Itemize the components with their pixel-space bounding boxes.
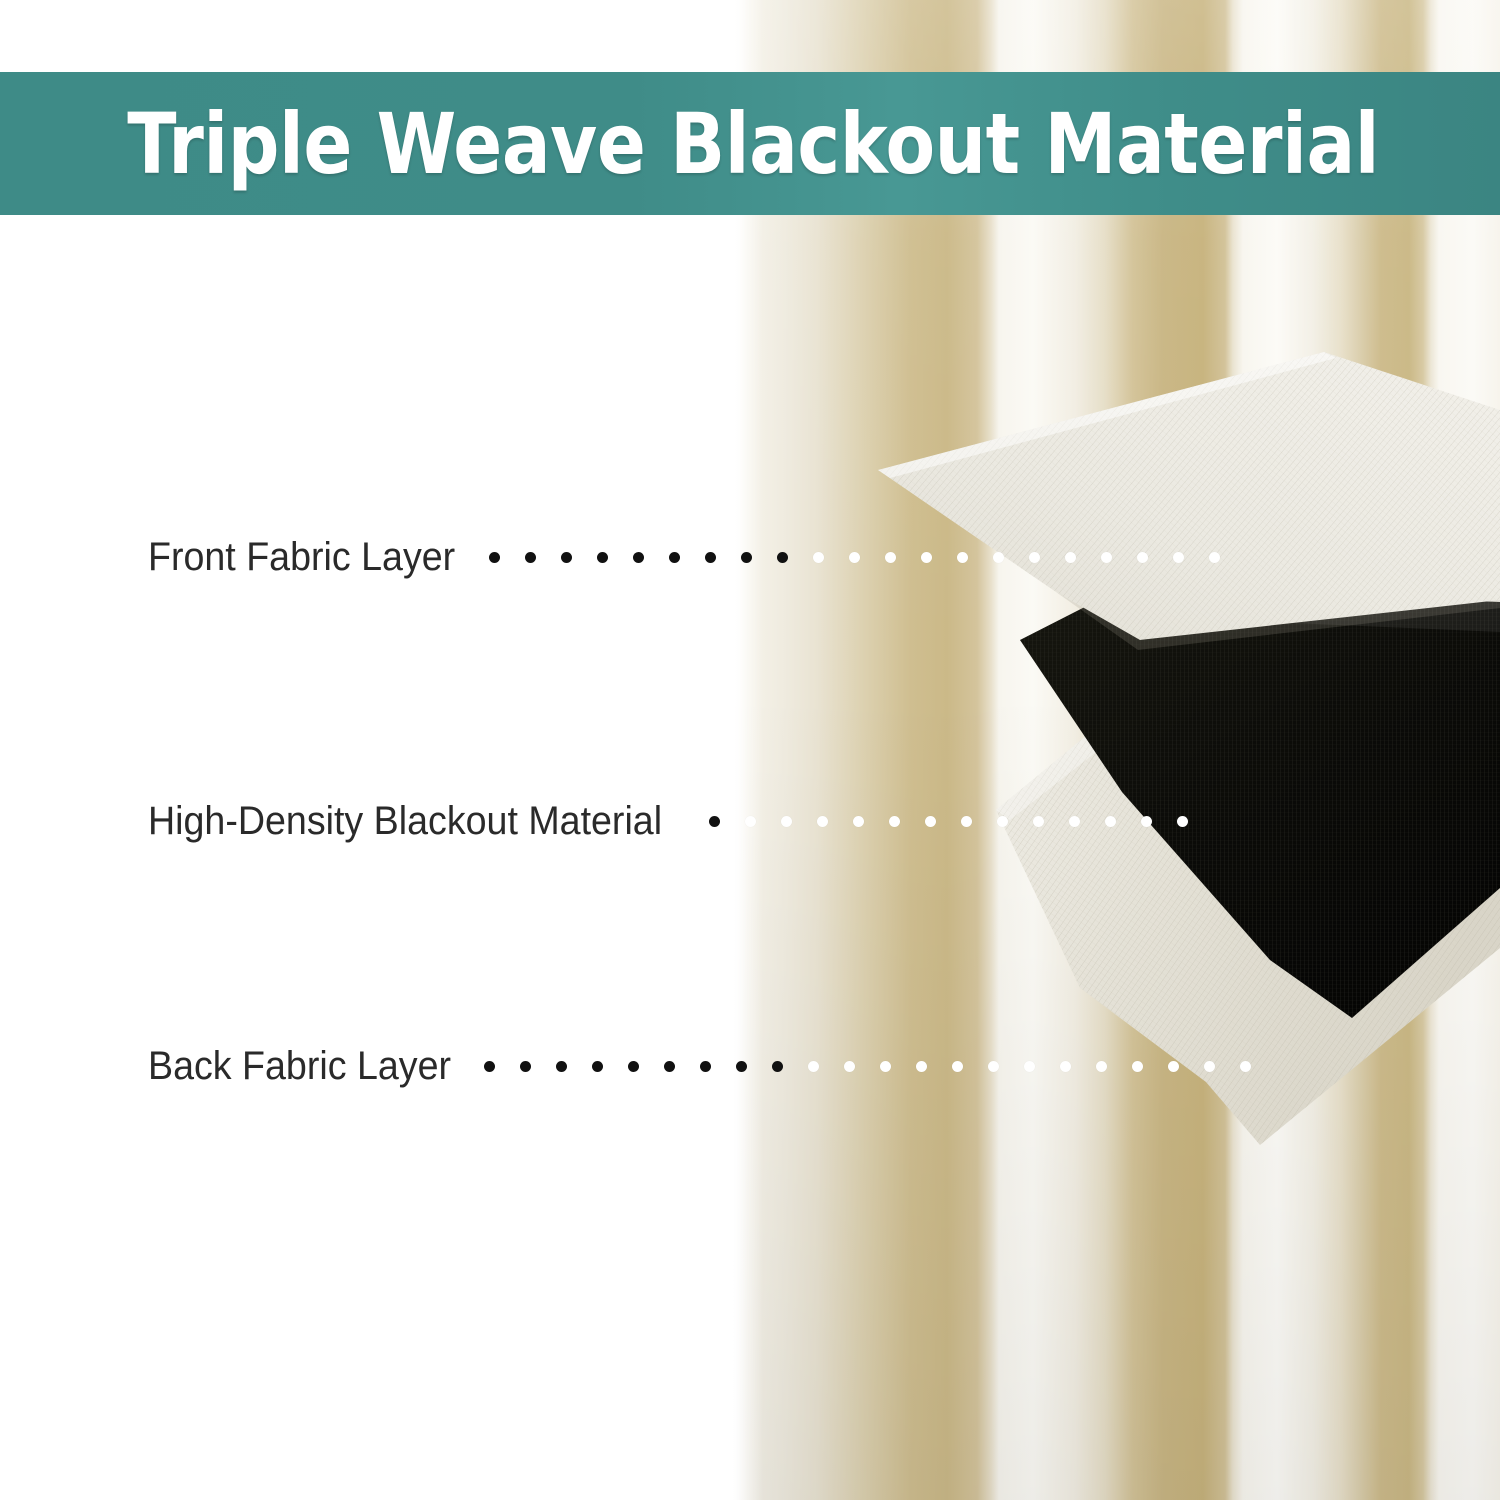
- page-title: Triple Weave Blackout Material: [0, 102, 1379, 186]
- leader-dot: [1168, 1061, 1179, 1072]
- leader-dot: [736, 1061, 747, 1072]
- leader-dot: [961, 816, 972, 827]
- leader-dots-back-fabric-layer: [484, 1061, 1276, 1072]
- leader-dot: [597, 552, 608, 563]
- leader-dot: [705, 552, 716, 563]
- leader-dot: [1141, 816, 1152, 827]
- callout-label-high-density-blackout-material: High-Density Blackout Material: [148, 801, 662, 841]
- leader-dot: [1024, 1061, 1035, 1072]
- leader-dot: [1033, 816, 1044, 827]
- leader-dot: [1060, 1061, 1071, 1072]
- leader-dot: [997, 816, 1008, 827]
- leader-dot: [745, 816, 756, 827]
- leader-dot: [592, 1061, 603, 1072]
- leader-dot: [633, 552, 644, 563]
- leader-dot: [957, 552, 968, 563]
- leader-dot: [925, 816, 936, 827]
- leader-dot: [1101, 552, 1112, 563]
- leader-dot: [525, 552, 536, 563]
- callout-high-density-blackout-material: High-Density Blackout Material: [148, 791, 1213, 851]
- leader-dot: [781, 816, 792, 827]
- leader-dot: [700, 1061, 711, 1072]
- leader-dot: [853, 816, 864, 827]
- leader-dot: [1132, 1061, 1143, 1072]
- leader-dot: [1177, 816, 1188, 827]
- title-banner: Triple Weave Blackout Material: [0, 72, 1500, 215]
- leader-dot: [777, 552, 788, 563]
- leader-dot: [664, 1061, 675, 1072]
- leader-dots-front-fabric-layer: [489, 552, 1245, 563]
- leader-dot: [808, 1061, 819, 1072]
- callout-label-front-fabric-layer: Front Fabric Layer: [148, 537, 455, 577]
- leader-dot: [489, 552, 500, 563]
- leader-dot: [741, 552, 752, 563]
- infographic-canvas: Front Fabric Layer High-Densi: [0, 0, 1500, 1500]
- leader-dot: [880, 1061, 891, 1072]
- leader-dot: [561, 552, 572, 563]
- callout-label-back-fabric-layer: Back Fabric Layer: [148, 1046, 451, 1086]
- callout-back-fabric-layer: Back Fabric Layer: [148, 1036, 1276, 1096]
- leader-dot: [1209, 552, 1220, 563]
- leader-dot: [556, 1061, 567, 1072]
- leader-dot: [1173, 552, 1184, 563]
- leader-dot: [1105, 816, 1116, 827]
- leader-dot: [988, 1061, 999, 1072]
- leader-dot: [1137, 552, 1148, 563]
- leader-dot: [1240, 1061, 1251, 1072]
- leader-dot: [669, 552, 680, 563]
- leader-dot: [813, 552, 824, 563]
- leader-dot: [1069, 816, 1080, 827]
- leader-dot: [628, 1061, 639, 1072]
- leader-dot: [1029, 552, 1040, 563]
- leader-dot: [817, 816, 828, 827]
- leader-dot: [1065, 552, 1076, 563]
- leader-dot: [1096, 1061, 1107, 1072]
- leader-dot: [484, 1061, 495, 1072]
- leader-dot: [1204, 1061, 1215, 1072]
- callout-front-fabric-layer: Front Fabric Layer: [148, 527, 1245, 587]
- leader-dot: [844, 1061, 855, 1072]
- leader-dot: [772, 1061, 783, 1072]
- leader-dot: [921, 552, 932, 563]
- leader-dot: [952, 1061, 963, 1072]
- leader-dot: [916, 1061, 927, 1072]
- leader-dot: [849, 552, 860, 563]
- leader-dot: [709, 816, 720, 827]
- leader-dot: [520, 1061, 531, 1072]
- leader-dot: [885, 552, 896, 563]
- leader-dot: [889, 816, 900, 827]
- leader-dots-high-density-blackout-material: [709, 816, 1213, 827]
- leader-dot: [993, 552, 1004, 563]
